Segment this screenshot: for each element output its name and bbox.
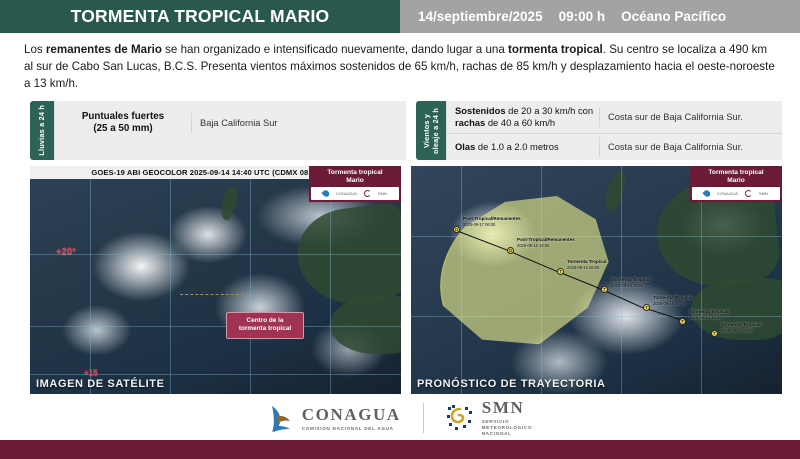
summary-text-1: Los bbox=[24, 43, 46, 56]
summary-bold-2: tormenta tropical bbox=[508, 43, 603, 56]
satellite-map[interactable]: +20° +15 Centro de la tormenta tropical … bbox=[30, 166, 401, 394]
track-point-label: Tormenta Tropical 2025-09-14 09:00 bbox=[721, 322, 760, 333]
track-datetime: 2025-09-15 18:00 bbox=[611, 283, 643, 288]
wind-label-text-2: de 40 a 60 km/h bbox=[485, 117, 555, 128]
storm-center-line2: tormenta tropical bbox=[239, 325, 291, 332]
grid-line-vertical bbox=[170, 179, 171, 394]
info-panels: Lluvias a 24 h Puntuales fuertes (25 a 5… bbox=[0, 101, 800, 160]
track-point-label: Tormenta Tropical 2025-09-15 18:00 bbox=[611, 277, 650, 288]
table-row: Puntuales fuertes (25 a 50 mm) Baja Cali… bbox=[55, 101, 406, 145]
waves-label-text: de 1.0 a 2.0 metros bbox=[475, 141, 558, 152]
summary-text-2: se han organizado e intensificado nuevam… bbox=[162, 43, 508, 56]
rain-tab-line1: Lluvias bbox=[37, 129, 46, 156]
track-datetime: 2025-09-17 06:00 bbox=[463, 222, 495, 227]
badge-conagua-label: CONAGUA bbox=[336, 191, 357, 196]
rain-table: Puntuales fuertes (25 a 50 mm) Baja Cali… bbox=[54, 101, 406, 160]
summary-bold-1: remanentes de Mario bbox=[46, 43, 162, 56]
badge-line2: Mario bbox=[311, 177, 399, 185]
rain-category-range: (25 a 50 mm) bbox=[93, 123, 152, 134]
page-title: TORMENTA TROPICAL MARIO bbox=[0, 0, 400, 33]
swirl-icon bbox=[745, 190, 752, 197]
water-drop-icon bbox=[321, 189, 330, 198]
storm-badge: Tormenta tropical Mario CONAGUA SMN bbox=[309, 166, 401, 202]
satellite-map-caption: IMAGEN DE SATÉLITE bbox=[36, 378, 165, 390]
track-point-label: Tormenta Tropical 2025-09-16 06:00 bbox=[567, 259, 606, 270]
header-time: 09:00 h bbox=[559, 9, 606, 24]
track-datetime: 2025-09-16 18:00 bbox=[517, 243, 549, 248]
conagua-glyph bbox=[268, 403, 294, 433]
wind-tab-line2: oleaje a 24 h bbox=[431, 108, 440, 154]
track-status: Tormenta Tropical bbox=[689, 309, 728, 314]
badge-line1: Tormenta tropical bbox=[692, 169, 780, 177]
track-status: Post-Tropical/Remanentes bbox=[517, 237, 575, 242]
badge-logos: CONAGUA SMN bbox=[692, 187, 780, 200]
footer-logos: CONAGUA COMISIÓN NACIONAL DEL AGUA bbox=[0, 395, 800, 440]
rain-panel: Lluvias a 24 h Puntuales fuertes (25 a 5… bbox=[30, 101, 406, 160]
wind-tab-line1: Vientos y bbox=[422, 114, 431, 148]
badge-conagua-label: CONAGUA bbox=[717, 191, 738, 196]
badge-smn-label: SMN bbox=[378, 191, 387, 196]
forecast-map-caption: PRONÓSTICO DE TRAYECTORIA bbox=[417, 378, 606, 390]
grid-line-vertical bbox=[330, 179, 331, 394]
table-row: Sostenidos de 20 a 30 km/h con rachas de… bbox=[447, 101, 782, 133]
storm-direction-line bbox=[180, 294, 244, 295]
conagua-subtitle: COMISIÓN NACIONAL DEL AGUA bbox=[302, 426, 401, 431]
track-datetime: 2025-09-15 06:00 bbox=[653, 301, 685, 306]
badge-line1: Tormenta tropical bbox=[311, 169, 399, 177]
summary-paragraph: Los remanentes de Mario se han organizad… bbox=[24, 42, 778, 92]
forecast-track-map[interactable]: D D T T T T T Post-Tropical/Remanentes 2… bbox=[411, 166, 782, 394]
waves-category: Olas de 1.0 a 2.0 metros bbox=[447, 137, 599, 157]
badge-smn-label: SMN bbox=[759, 191, 768, 196]
conagua-wordmark: CONAGUA COMISIÓN NACIONAL DEL AGUA bbox=[302, 405, 401, 431]
track-datetime: 2025-09-14 18:00 bbox=[689, 315, 721, 320]
track-point-label: Post-Tropical/Remanentes 2025-09-16 18:0… bbox=[517, 237, 575, 248]
wind-label-bold-1: Sostenidos bbox=[455, 105, 506, 116]
conagua-logo: CONAGUA COMISIÓN NACIONAL DEL AGUA bbox=[268, 403, 401, 433]
smn-glyph bbox=[446, 404, 474, 432]
storm-center-label: Centro de la tormenta tropical bbox=[226, 312, 304, 339]
wind-zone: Costa sur de Baja California Sur. bbox=[599, 107, 782, 127]
track-datetime: 2025-09-16 06:00 bbox=[567, 265, 599, 270]
grid-line-horizontal bbox=[30, 326, 401, 327]
wind-panel-tab: Vientos y oleaje a 24 h bbox=[416, 101, 446, 160]
track-point[interactable]: D bbox=[507, 247, 514, 254]
track-point[interactable]: T bbox=[711, 330, 718, 337]
waves-label-bold: Olas bbox=[455, 141, 475, 152]
wind-category: Sostenidos de 20 a 30 km/h con rachas de… bbox=[447, 101, 599, 133]
smn-sub-line1: SERVICIO bbox=[482, 419, 509, 424]
footer-divider bbox=[423, 403, 424, 433]
track-status: Tormenta Tropical bbox=[653, 295, 692, 300]
latitude-label-15: +15 bbox=[84, 368, 98, 377]
grid-line-horizontal bbox=[30, 254, 401, 255]
smn-logo: SMN SERVICIO METEOROLÓGICO NACIONAL bbox=[446, 398, 532, 438]
track-point[interactable]: D bbox=[453, 226, 460, 233]
conagua-eagle-icon bbox=[268, 403, 294, 433]
smn-sub-line3: NACIONAL bbox=[482, 431, 512, 436]
grid-line-vertical bbox=[250, 179, 251, 394]
header-date: 14/septiembre/2025 bbox=[418, 9, 543, 24]
wind-table: Sostenidos de 20 a 30 km/h con rachas de… bbox=[446, 101, 782, 160]
rain-panel-tab: Lluvias a 24 h bbox=[30, 101, 54, 160]
track-status: Tormenta Tropical bbox=[611, 277, 650, 282]
badge-logos: CONAGUA SMN bbox=[311, 187, 399, 200]
track-status: Tormenta Tropical bbox=[721, 322, 760, 327]
track-point[interactable]: T bbox=[679, 318, 686, 325]
bottom-accent-bar bbox=[0, 440, 800, 459]
track-point-label: Tormenta Tropical 2025-09-15 06:00 bbox=[653, 295, 692, 306]
header-bar: TORMENTA TROPICAL MARIO 14/septiembre/20… bbox=[0, 0, 800, 33]
rain-category-name: Puntuales fuertes bbox=[82, 111, 164, 122]
smn-spiral-icon bbox=[446, 404, 474, 432]
track-status: Post-Tropical/Remanentes bbox=[463, 216, 521, 221]
maps-row: +20° +15 Centro de la tormenta tropical … bbox=[0, 160, 800, 394]
water-drop-icon bbox=[702, 189, 711, 198]
waves-zone: Costa sur de Baja California Sur. bbox=[599, 137, 782, 157]
smn-sub-line2: METEOROLÓGICO bbox=[482, 425, 532, 430]
storm-badge: Tormenta tropical Mario CONAGUA SMN bbox=[690, 166, 782, 202]
track-point[interactable]: T bbox=[601, 286, 608, 293]
track-datetime: 2025-09-14 09:00 bbox=[721, 328, 753, 333]
grid-line-vertical bbox=[90, 179, 91, 394]
latitude-label-20: +20° bbox=[56, 246, 76, 257]
track-point[interactable]: T bbox=[643, 304, 650, 311]
track-point-label: Tormenta Tropical 2025-09-14 18:00 bbox=[689, 309, 728, 320]
smn-name: SMN bbox=[482, 398, 532, 418]
conagua-name: CONAGUA bbox=[302, 405, 401, 425]
header-meta: 14/septiembre/2025 09:00 h Océano Pacífi… bbox=[400, 0, 800, 33]
track-point[interactable]: T bbox=[557, 268, 564, 275]
bulletin-sheet: TORMENTA TROPICAL MARIO 14/septiembre/20… bbox=[0, 0, 800, 459]
badge-line2: Mario bbox=[692, 177, 780, 185]
swirl-icon bbox=[364, 190, 371, 197]
header-basin: Océano Pacífico bbox=[621, 9, 726, 24]
rain-category: Puntuales fuertes (25 a 50 mm) bbox=[55, 107, 191, 139]
storm-center-line1: Centro de la bbox=[247, 317, 284, 324]
smn-wordmark: SMN SERVICIO METEOROLÓGICO NACIONAL bbox=[482, 398, 532, 438]
wind-label-text-1: de 20 a 30 km/h con bbox=[506, 105, 594, 116]
track-point-label: Post-Tropical/Remanentes 2025-09-17 06:0… bbox=[463, 216, 521, 227]
rain-zone: Baja California Sur bbox=[191, 113, 406, 133]
table-row: Olas de 1.0 a 2.0 metros Costa sur de Ba… bbox=[447, 133, 782, 160]
wind-panel: Vientos y oleaje a 24 h Sostenidos de 20… bbox=[416, 101, 782, 160]
smn-subtitle: SERVICIO METEOROLÓGICO NACIONAL bbox=[482, 419, 532, 438]
track-status: Tormenta Tropical bbox=[567, 259, 606, 264]
wind-label-bold-2: rachas bbox=[455, 117, 485, 128]
rain-tab-line2: a 24 h bbox=[37, 105, 46, 127]
